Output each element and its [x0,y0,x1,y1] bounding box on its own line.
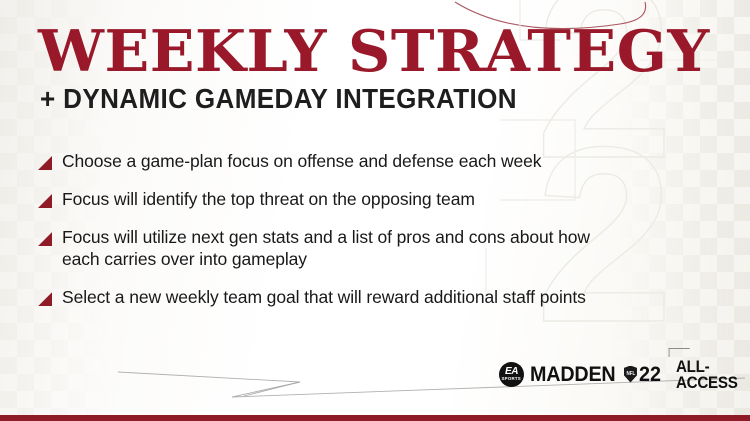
triangle-bullet-icon [38,156,52,170]
bottom-accent-rule [0,415,750,421]
list-item-label: Focus will utilize next gen stats and a … [62,226,618,270]
nfl-shield-label: NFL [626,372,635,377]
page-title: WEEKLY STRATEGY [38,23,710,80]
bullet-list: Choose a game-plan focus on offense and … [38,150,618,324]
madden-year: 22 [639,364,661,385]
nfl-shield-icon: NFL [624,366,637,383]
triangle-bullet-icon [38,232,52,246]
ea-sports-wordmark: SPORTS [502,376,521,381]
list-item: Focus will identify the top threat on th… [38,188,618,210]
list-item-label: Focus will identify the top threat on th… [62,188,475,210]
triangle-bullet-icon [38,194,52,208]
list-item-label: Select a new weekly team goal that will … [62,286,586,308]
madden-wordmark: MADDEN [530,364,616,385]
list-item: Focus will utilize next gen stats and a … [38,226,618,270]
presentation-slide: 2 2 WEEKLY STRATEGY + DYNAMIC GAMEDAY IN… [0,0,750,421]
list-item: Choose a game-plan focus on offense and … [38,150,618,172]
ea-sports-logo-icon: EA SPORTS [499,362,524,387]
ea-initials: EA [505,367,518,376]
madden-logo-lockup: EA SPORTS MADDEN NFL 22 ALL-ACCESS [499,360,750,388]
list-item: Select a new weekly team goal that will … [38,286,618,308]
page-subtitle: + DYNAMIC GAMEDAY INTEGRATION [40,85,517,113]
list-item-label: Choose a game-plan focus on offense and … [62,150,541,172]
triangle-bullet-icon [38,292,52,306]
all-access-tagline: ALL-ACCESS [676,357,744,392]
